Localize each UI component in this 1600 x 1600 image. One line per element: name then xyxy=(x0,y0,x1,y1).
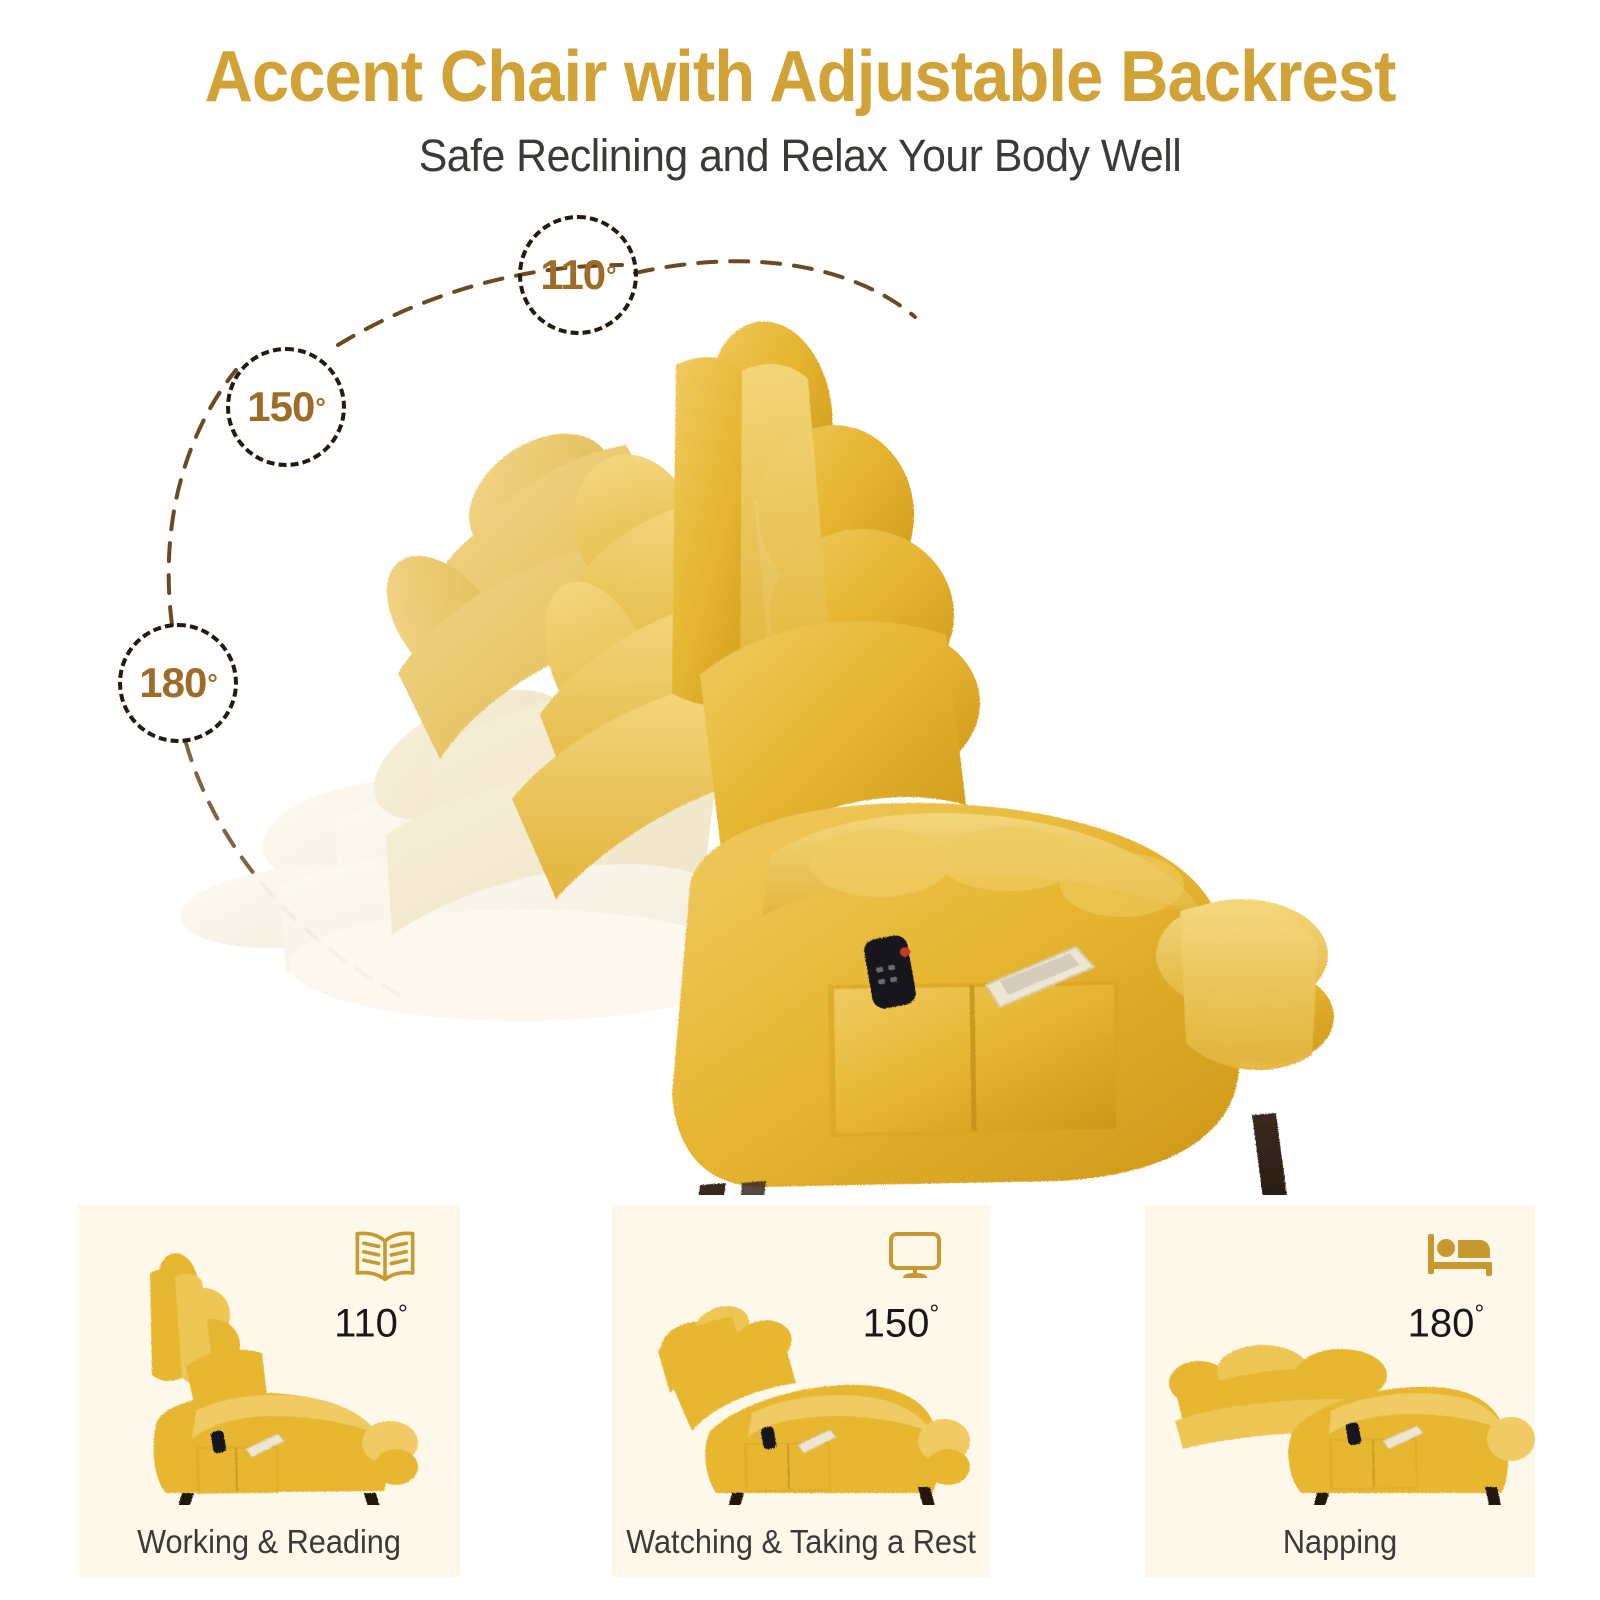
panel-angle-value: 110 xyxy=(334,1301,398,1345)
chair-leg-front-left xyxy=(678,1183,726,1195)
scenario-panel-watching-rest[interactable]: 150° Watching & Taking a Rest xyxy=(612,1205,990,1577)
panel-caption-watching-rest: Watching & Taking a Rest xyxy=(625,1523,977,1561)
usage-scenario-panels: 110° Working & Reading xyxy=(0,1205,1600,1595)
page-subtitle: Safe Reclining and Relax Your Body Well xyxy=(40,130,1560,182)
panel-angle-150: 150° xyxy=(826,1301,976,1346)
scenario-panel-napping[interactable]: 180° Napping xyxy=(1145,1205,1535,1577)
bed-icon xyxy=(1385,1215,1535,1297)
scenario-panel-working-reading[interactable]: 110° Working & Reading xyxy=(78,1205,460,1577)
degree-symbol: ° xyxy=(1474,1301,1484,1328)
panel-angle-110: 110° xyxy=(296,1301,446,1346)
panel-caption-working-reading: Working & Reading xyxy=(91,1523,446,1561)
hero-product-illustration: 110° 150° 180° xyxy=(0,195,1600,1195)
open-book-icon xyxy=(310,1215,460,1297)
panel-caption-napping: Napping xyxy=(1159,1523,1522,1561)
monitor-icon xyxy=(840,1215,990,1297)
panel-angle-180: 180° xyxy=(1371,1301,1521,1346)
panel-angle-value: 150 xyxy=(863,1301,930,1345)
chair-leg-right xyxy=(1252,1113,1300,1195)
main-chair xyxy=(672,314,1334,1195)
page-title: Accent Chair with Adjustable Backrest xyxy=(56,36,1544,118)
degree-symbol: ° xyxy=(929,1301,939,1328)
panel-angle-value: 180 xyxy=(1408,1301,1475,1345)
chair-illustration xyxy=(0,195,1600,1195)
degree-symbol: ° xyxy=(398,1301,408,1328)
